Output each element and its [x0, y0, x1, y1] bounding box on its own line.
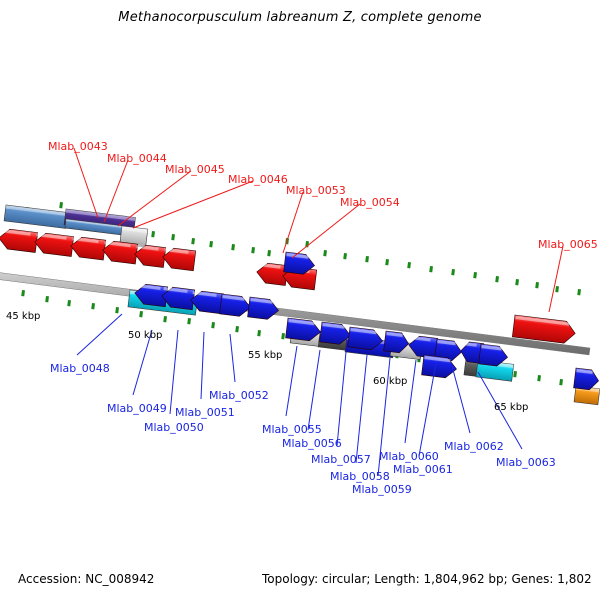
- tick-mark: [21, 290, 25, 296]
- genome-summary-text: Topology: circular; Length: 1,804,962 bp…: [262, 572, 592, 586]
- gene-label[interactable]: Mlab_0053: [286, 184, 346, 197]
- scale-marker-label[interactable]: 65 kbp: [494, 402, 528, 413]
- tick-mark: [251, 247, 255, 253]
- tick-mark: [473, 272, 477, 278]
- tick-mark: [281, 333, 285, 339]
- gene-arrow-forward: [574, 368, 600, 391]
- tick-mark: [537, 375, 541, 381]
- tick-mark: [513, 371, 517, 377]
- leader-line-red: [118, 171, 191, 226]
- gene-label[interactable]: Mlab_0065: [538, 238, 598, 251]
- leader-line-blue: [337, 352, 346, 446]
- gene-label[interactable]: Mlab_0045: [165, 163, 225, 176]
- tick-mark: [323, 250, 327, 256]
- tick-mark: [407, 262, 411, 268]
- gene-label[interactable]: Mlab_0050: [144, 421, 204, 434]
- gene-label[interactable]: Mlab_0059: [352, 483, 412, 496]
- tick-mark: [191, 238, 195, 244]
- tick-mark: [211, 322, 215, 328]
- tick-mark: [209, 241, 213, 247]
- leader-line-red: [133, 181, 253, 228]
- tick-mark: [67, 300, 71, 306]
- leader-line-blue: [77, 314, 122, 355]
- gene-label[interactable]: Mlab_0056: [282, 437, 342, 450]
- leader-line-blue: [201, 332, 204, 399]
- leader-line-red: [292, 204, 360, 258]
- tick-mark: [59, 202, 63, 208]
- leader-line-red: [283, 192, 303, 253]
- tick-mark: [151, 231, 155, 237]
- gene-label[interactable]: Mlab_0063: [496, 456, 556, 469]
- scale-marker-label[interactable]: 50 kbp: [128, 330, 162, 341]
- gene-label[interactable]: Mlab_0057: [311, 453, 371, 466]
- gene-label[interactable]: Mlab_0044: [107, 152, 167, 165]
- gene-label[interactable]: Mlab_0054: [340, 196, 400, 209]
- tick-mark: [429, 266, 433, 272]
- tick-mark: [577, 289, 581, 295]
- gene-arrow-reverse: [0, 228, 38, 252]
- scale-marker-label[interactable]: 55 kbp: [248, 350, 282, 361]
- leader-line-blue: [286, 346, 297, 416]
- tick-mark: [559, 379, 563, 385]
- gene-arrow-forward: [248, 297, 280, 321]
- gene-arrow-reverse: [102, 240, 138, 264]
- tick-mark: [451, 269, 455, 275]
- tick-mark: [515, 279, 519, 285]
- scale-marker-label[interactable]: 60 kbp: [373, 376, 407, 387]
- gene-arrow-reverse: [34, 232, 74, 256]
- domain-bar: [4, 205, 67, 228]
- leader-line-blue: [356, 355, 367, 463]
- leader-line-blue: [170, 330, 178, 414]
- gene-arrow-reverse: [256, 262, 288, 286]
- genome-map-viewer: Methanocorpusculum labreanum Z, complete…: [0, 0, 600, 600]
- gene-label[interactable]: Mlab_0060: [379, 450, 439, 463]
- gene-label[interactable]: Mlab_0051: [175, 406, 235, 419]
- tick-mark: [139, 311, 143, 317]
- tick-mark: [187, 318, 191, 324]
- tick-mark: [45, 296, 49, 302]
- gene-arrow-reverse: [162, 247, 196, 271]
- gene-arrow-reverse: [134, 244, 166, 268]
- gene-label[interactable]: Mlab_0062: [444, 440, 504, 453]
- gene-label[interactable]: Mlab_0055: [262, 423, 322, 436]
- gene-label[interactable]: Mlab_0043: [48, 140, 108, 153]
- tick-mark: [267, 250, 271, 256]
- genome-map-canvas: [0, 0, 600, 600]
- tick-mark: [365, 256, 369, 262]
- gene-arrow-forward: [220, 294, 252, 318]
- leader-line-blue: [419, 363, 436, 456]
- tick-mark: [171, 234, 175, 240]
- tick-mark: [343, 253, 347, 259]
- gene-label[interactable]: Mlab_0049: [107, 402, 167, 415]
- scale-marker-label[interactable]: 45 kbp: [6, 311, 40, 322]
- gene-label[interactable]: Mlab_0052: [209, 389, 269, 402]
- gene-label[interactable]: Mlab_0046: [228, 173, 288, 186]
- leader-line-blue: [230, 334, 235, 382]
- tick-mark: [257, 330, 261, 336]
- tick-mark: [555, 286, 559, 292]
- tick-mark: [385, 259, 389, 265]
- leader-line-blue: [452, 366, 470, 433]
- gene-label[interactable]: Mlab_0048: [50, 362, 110, 375]
- leader-line-red: [74, 148, 98, 218]
- gene-arrow-reverse: [70, 236, 106, 260]
- tick-mark: [235, 326, 239, 332]
- tick-mark: [163, 316, 167, 322]
- leader-line-red: [104, 160, 128, 222]
- tick-mark: [115, 307, 119, 313]
- gene-label[interactable]: Mlab_0058: [330, 470, 390, 483]
- leader-line-red: [549, 246, 563, 312]
- leader-line-blue: [308, 350, 320, 430]
- tick-mark: [535, 282, 539, 288]
- tick-mark: [231, 244, 235, 250]
- gene-label[interactable]: Mlab_0061: [393, 463, 453, 476]
- tick-mark: [495, 276, 499, 282]
- accession-text: Accession: NC_008942: [18, 572, 154, 586]
- leader-line-blue: [405, 360, 416, 443]
- tick-mark: [91, 303, 95, 309]
